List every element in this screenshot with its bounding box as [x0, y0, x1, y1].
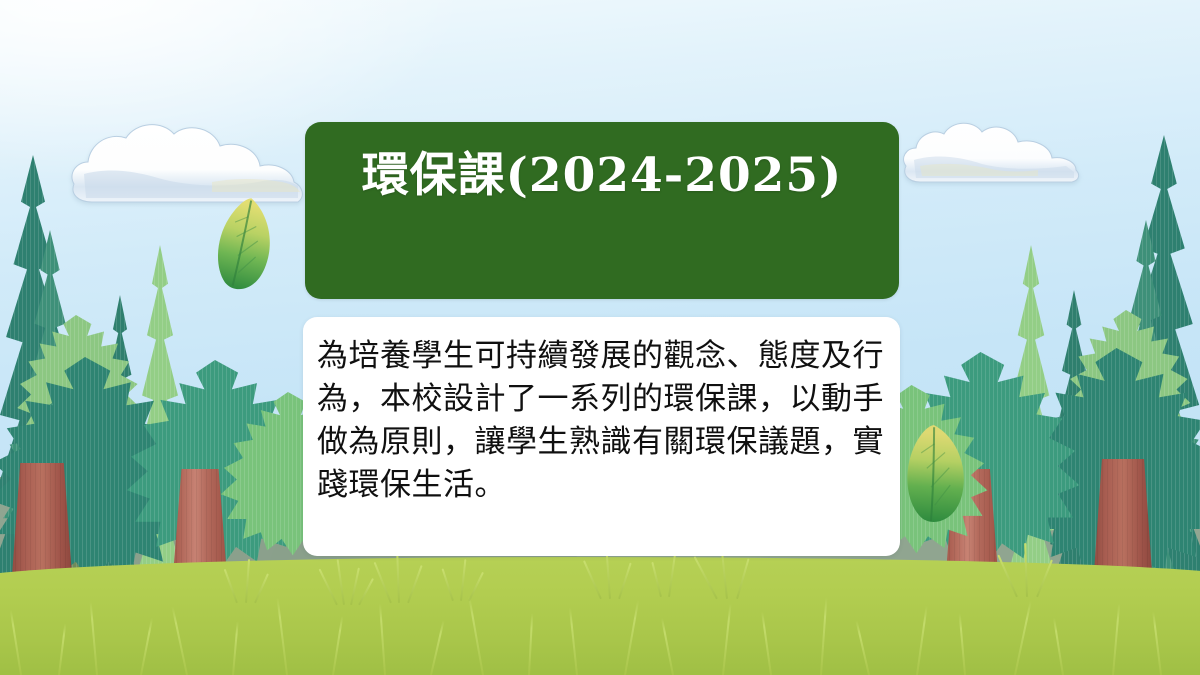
cloud-right: [900, 108, 1090, 188]
slide-canvas: 環保課(2024-2025) 為培養學生可持續發展的觀念、態度及行為，本校設計了…: [0, 0, 1200, 675]
description-paragraph: 為培養學生可持續發展的觀念、態度及行為，本校設計了一系列的環保課，以動手做為原則…: [317, 335, 884, 507]
cloud-right-icon: [900, 108, 1090, 188]
cloud-left-icon: [62, 112, 322, 212]
description-card: 為培養學生可持續發展的觀念、態度及行為，本校設計了一系列的環保課，以動手做為原則…: [303, 317, 900, 556]
title-card: 環保課(2024-2025): [305, 122, 899, 299]
page-title: 環保課(2024-2025): [362, 148, 843, 203]
cloud-left: [62, 112, 322, 212]
